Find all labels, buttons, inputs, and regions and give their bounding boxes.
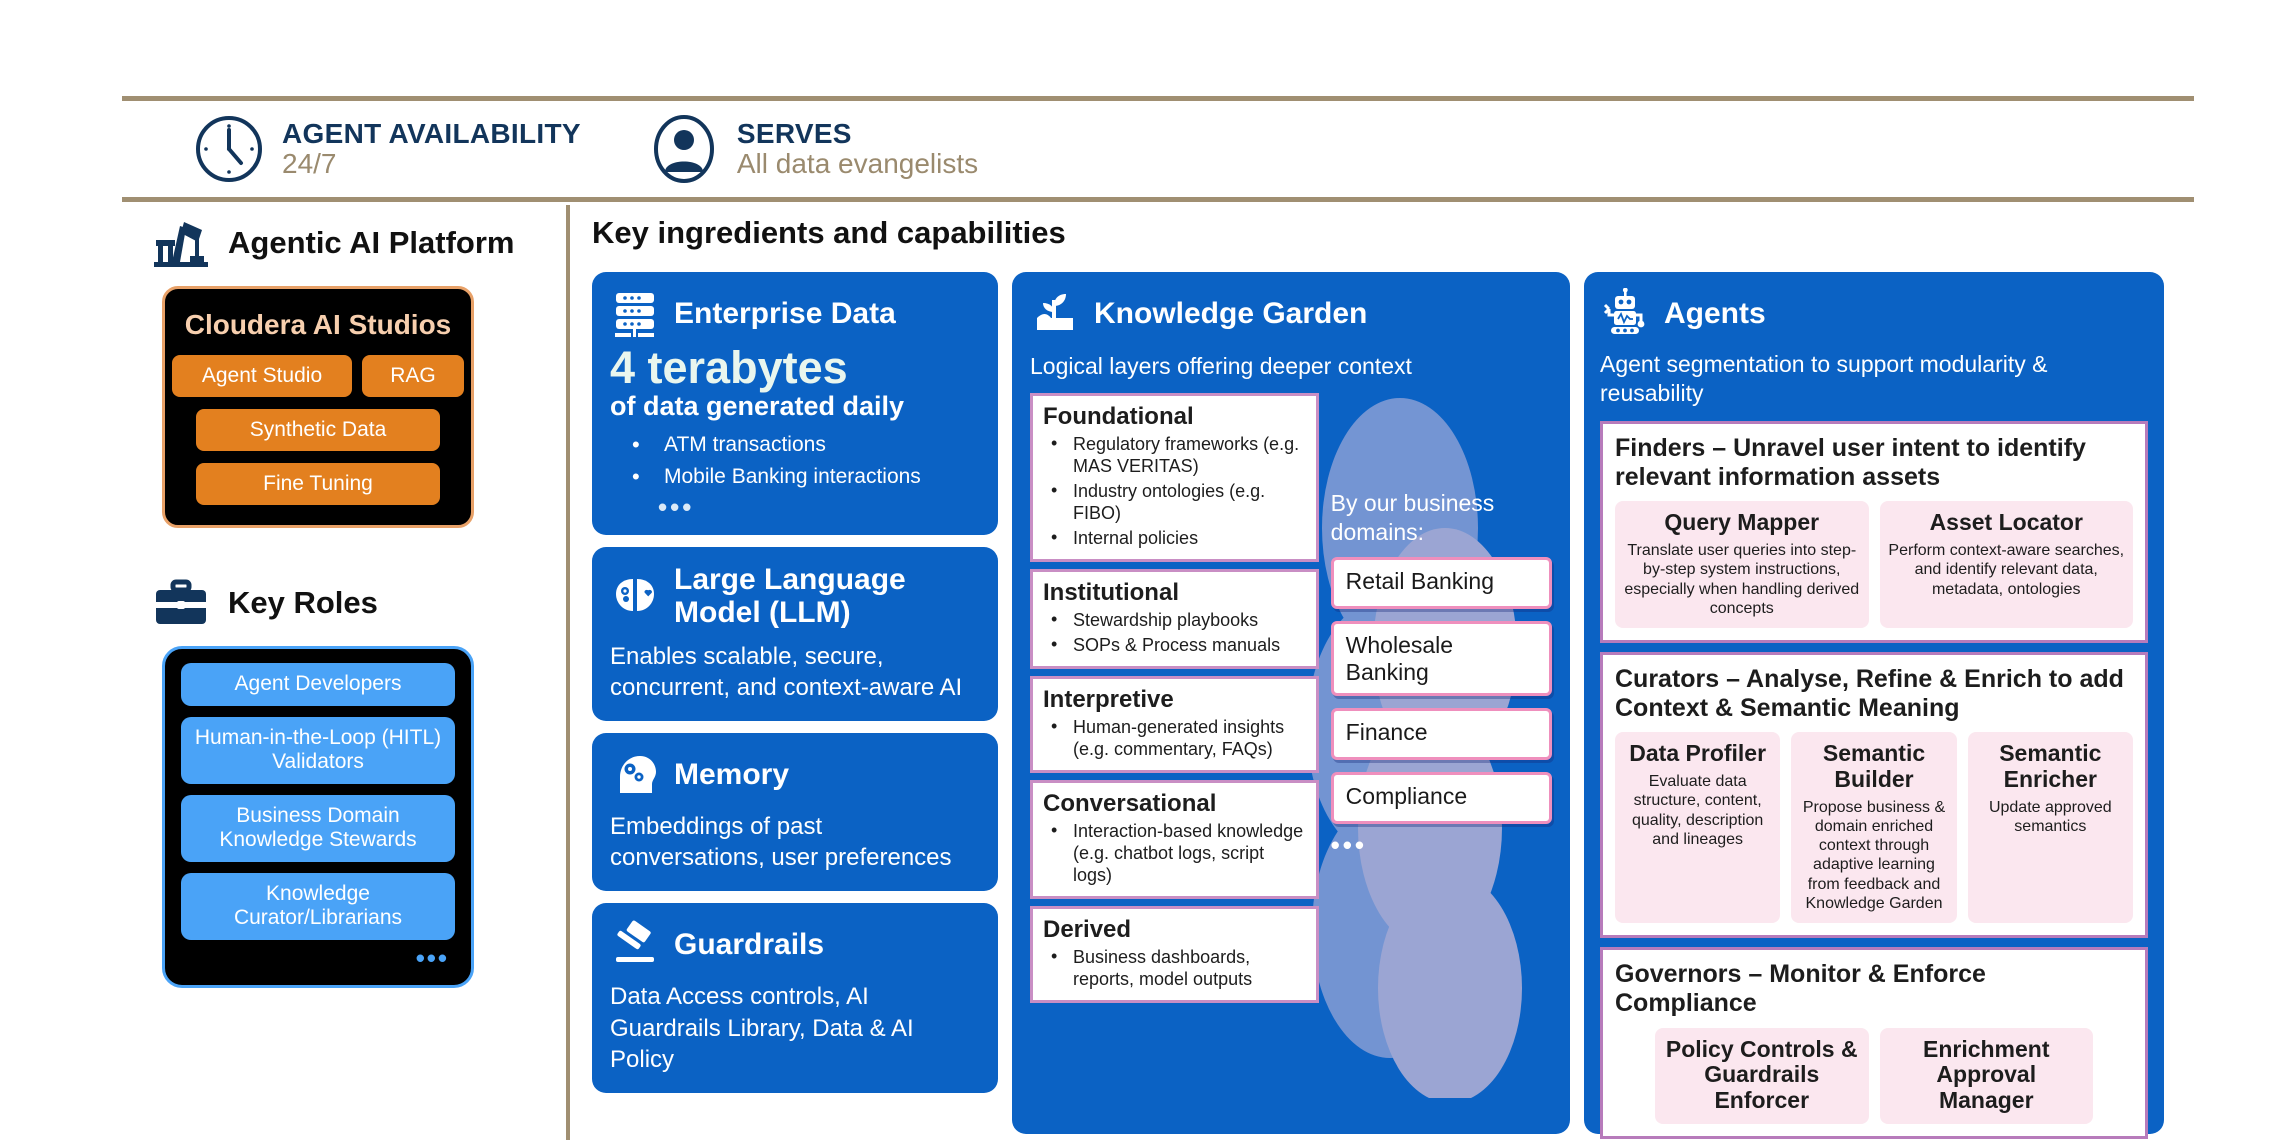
guardrails-body: Data Access controls, AI Guardrails Libr… bbox=[610, 981, 980, 1075]
agents-lead: Agent segmentation to support modularity… bbox=[1600, 350, 2148, 409]
agent-description: Propose business & domain enriched conte… bbox=[1799, 798, 1948, 913]
platform-header: Agentic AI Platform bbox=[150, 212, 550, 274]
agent-enrichment-approval-manager[interactable]: Enrichment Approval Manager bbox=[1880, 1028, 2094, 1124]
card-title: Guardrails bbox=[674, 928, 824, 961]
card-memory: Memory Embeddings of past conversations,… bbox=[592, 733, 998, 891]
brain-icon bbox=[610, 571, 660, 621]
roles-header: Key Roles bbox=[150, 572, 550, 634]
list-item: Industry ontologies (e.g. FIBO) bbox=[1043, 481, 1306, 525]
cloudera-ai-studios-box: Cloudera AI Studios Agent Studio RAG Syn… bbox=[162, 286, 474, 528]
clock-icon bbox=[194, 114, 264, 184]
agent-name: Semantic Enricher bbox=[1976, 741, 2125, 793]
vertical-divider bbox=[566, 205, 570, 1140]
top-banner: AGENT AVAILABILITY 24/7 SERVES All data … bbox=[122, 96, 2194, 202]
roles-more-icon[interactable]: ••• bbox=[181, 951, 455, 977]
server-icon bbox=[610, 288, 660, 338]
domain-compliance[interactable]: Compliance bbox=[1331, 772, 1552, 824]
list-item: Stewardship playbooks bbox=[1043, 610, 1306, 632]
panel-agents: Agents Agent segmentation to support mod… bbox=[1584, 272, 2164, 1134]
panel-title: Knowledge Garden bbox=[1094, 297, 1367, 330]
page-title: Key ingredients and capabilities bbox=[592, 215, 1066, 251]
pill-agent-studio[interactable]: Agent Studio bbox=[172, 355, 352, 397]
agent-data-profiler[interactable]: Data Profiler Evaluate data structure, c… bbox=[1615, 732, 1780, 923]
list-item: Human-generated insights (e.g. commentar… bbox=[1043, 717, 1306, 761]
list-item: Regulatory frameworks (e.g. MAS VERITAS) bbox=[1043, 434, 1306, 478]
ingredients-column: Enterprise Data 4 terabytes of data gene… bbox=[592, 272, 998, 1105]
role-knowledge-stewards[interactable]: Business Domain Knowledge Stewards bbox=[181, 795, 455, 862]
layer-title: Conversational bbox=[1043, 790, 1306, 818]
agent-description: Update approved semantics bbox=[1976, 798, 2125, 836]
agent-name: Data Profiler bbox=[1623, 741, 1772, 767]
segment-title: Finders – Unravel user intent to identif… bbox=[1615, 434, 2133, 492]
card-title: Enterprise Data bbox=[674, 297, 896, 330]
layer-institutional: Institutional Stewardship playbooks SOPs… bbox=[1030, 569, 1319, 669]
list-item: Mobile Banking interactions bbox=[610, 461, 980, 493]
briefcase-icon bbox=[150, 572, 212, 634]
agent-description: Perform context-aware searches, and iden… bbox=[1888, 541, 2126, 599]
card-title: Large Language Model (LLM) bbox=[674, 563, 980, 629]
panel-knowledge-garden: Knowledge Garden Logical layers offering… bbox=[1012, 272, 1570, 1134]
studio-title: Cloudera AI Studios bbox=[183, 309, 453, 341]
oil-pump-icon bbox=[150, 212, 212, 274]
layer-title: Interpretive bbox=[1043, 686, 1306, 714]
layer-interpretive: Interpretive Human-generated insights (e… bbox=[1030, 676, 1319, 773]
agent-query-mapper[interactable]: Query Mapper Translate user queries into… bbox=[1615, 501, 1869, 628]
card-llm: Large Language Model (LLM) Enables scala… bbox=[592, 547, 998, 721]
agent-name: Policy Controls & Guardrails Enforcer bbox=[1663, 1037, 1861, 1114]
layer-foundational: Foundational Regulatory frameworks (e.g.… bbox=[1030, 393, 1319, 562]
list-item: Internal policies bbox=[1043, 528, 1306, 550]
panel-title: Agents bbox=[1664, 297, 1766, 330]
card-guardrails: Guardrails Data Access controls, AI Guar… bbox=[592, 903, 998, 1093]
list-item: Business dashboards, reports, model outp… bbox=[1043, 947, 1306, 991]
agent-description: Evaluate data structure, content, qualit… bbox=[1623, 772, 1772, 849]
layer-derived: Derived Business dashboards, reports, mo… bbox=[1030, 906, 1319, 1003]
agent-semantic-builder[interactable]: Semantic Builder Propose business & doma… bbox=[1791, 732, 1956, 923]
list-item: ATM transactions bbox=[610, 429, 980, 461]
segment-finders: Finders – Unravel user intent to identif… bbox=[1600, 421, 2148, 643]
key-roles-box: Agent Developers Human-in-the-Loop (HITL… bbox=[162, 646, 474, 988]
agent-description: Translate user queries into step-by-step… bbox=[1623, 541, 1861, 618]
role-hitl-validators[interactable]: Human-in-the-Loop (HITL) Validators bbox=[181, 717, 455, 784]
roles-title: Key Roles bbox=[228, 586, 378, 620]
list-item: Interaction-based knowledge (e.g. chatbo… bbox=[1043, 821, 1306, 887]
layer-title: Foundational bbox=[1043, 403, 1306, 431]
left-column: Agentic AI Platform Cloudera AI Studios … bbox=[150, 212, 550, 988]
domains-more-icon[interactable]: ••• bbox=[1331, 836, 1552, 854]
head-gears-icon bbox=[610, 749, 660, 799]
segment-title: Governors – Monitor & Enforce Compliance bbox=[1615, 960, 2133, 1018]
enterprise-data-stat: 4 terabytes bbox=[610, 344, 980, 391]
stat-agent-availability: AGENT AVAILABILITY 24/7 bbox=[194, 114, 581, 184]
pill-fine-tuning[interactable]: Fine Tuning bbox=[196, 463, 440, 505]
agent-asset-locator[interactable]: Asset Locator Perform context-aware sear… bbox=[1880, 501, 2134, 628]
stat-value: All data evangelists bbox=[737, 149, 978, 179]
card-enterprise-data: Enterprise Data 4 terabytes of data gene… bbox=[592, 272, 998, 535]
gavel-icon bbox=[610, 919, 660, 969]
infographic-canvas: AGENT AVAILABILITY 24/7 SERVES All data … bbox=[0, 0, 2280, 1142]
domains-lead: By our business domains: bbox=[1331, 489, 1552, 547]
segment-governors: Governors – Monitor & Enforce Compliance… bbox=[1600, 947, 2148, 1139]
list-item: SOPs & Process manuals bbox=[1043, 635, 1306, 657]
stat-title: SERVES bbox=[737, 119, 978, 149]
domain-finance[interactable]: Finance bbox=[1331, 708, 1552, 760]
domain-retail-banking[interactable]: Retail Banking bbox=[1331, 557, 1552, 609]
agent-name: Semantic Builder bbox=[1799, 741, 1948, 793]
sprout-icon bbox=[1030, 288, 1080, 338]
stat-serves: SERVES All data evangelists bbox=[649, 114, 978, 184]
layer-title: Derived bbox=[1043, 916, 1306, 944]
agent-semantic-enricher[interactable]: Semantic Enricher Update approved semant… bbox=[1968, 732, 2133, 923]
enterprise-data-caption: of data generated daily bbox=[610, 391, 980, 421]
business-domains-list: By our business domains: Retail Banking … bbox=[1331, 393, 1552, 1009]
platform-title: Agentic AI Platform bbox=[228, 226, 515, 260]
segment-curators: Curators – Analyse, Refine & Enrich to a… bbox=[1600, 652, 2148, 938]
person-icon bbox=[649, 114, 719, 184]
agent-name: Enrichment Approval Manager bbox=[1888, 1037, 2086, 1114]
memory-body: Embeddings of past conversations, user p… bbox=[610, 811, 980, 873]
domain-wholesale-banking[interactable]: Wholesale Banking bbox=[1331, 621, 1552, 696]
role-knowledge-curators[interactable]: Knowledge Curator/Librarians bbox=[181, 873, 455, 940]
pill-rag[interactable]: RAG bbox=[362, 355, 464, 397]
layer-conversational: Conversational Interaction-based knowled… bbox=[1030, 780, 1319, 899]
llm-body: Enables scalable, secure, concurrent, an… bbox=[610, 641, 980, 703]
stat-title: AGENT AVAILABILITY bbox=[282, 119, 581, 149]
agent-policy-controls-enforcer[interactable]: Policy Controls & Guardrails Enforcer bbox=[1655, 1028, 1869, 1124]
role-agent-developers[interactable]: Agent Developers bbox=[181, 663, 455, 706]
robot-icon bbox=[1600, 288, 1650, 338]
knowledge-garden-lead: Logical layers offering deeper context bbox=[1030, 352, 1552, 381]
agent-name: Query Mapper bbox=[1623, 510, 1861, 536]
agent-name: Asset Locator bbox=[1888, 510, 2126, 536]
enterprise-data-bullets: ATM transactions Mobile Banking interact… bbox=[610, 429, 980, 492]
segment-title: Curators – Analyse, Refine & Enrich to a… bbox=[1615, 665, 2133, 723]
card-title: Memory bbox=[674, 758, 789, 791]
knowledge-layers-list: Foundational Regulatory frameworks (e.g.… bbox=[1030, 393, 1319, 1009]
stat-value: 24/7 bbox=[282, 149, 581, 179]
layer-title: Institutional bbox=[1043, 579, 1306, 607]
enterprise-data-more-icon[interactable]: ••• bbox=[610, 492, 980, 516]
pill-synthetic-data[interactable]: Synthetic Data bbox=[196, 409, 440, 451]
